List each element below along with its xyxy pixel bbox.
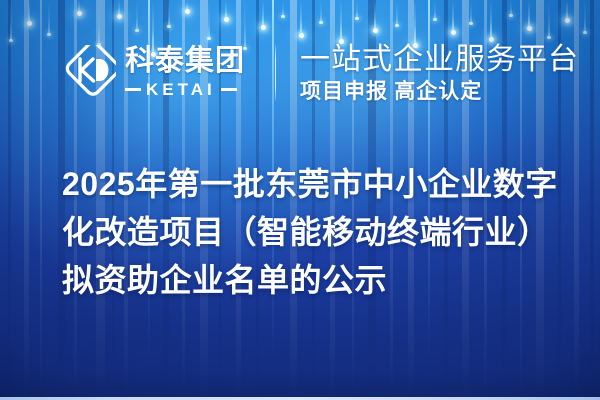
- background-stripe: [8, 0, 11, 400]
- light-streak-tail: [28, 0, 30, 24]
- tagline-sub: 项目申报 高企认定: [300, 80, 579, 102]
- light-streak-head: [167, 25, 171, 29]
- light-streak-icon: [28, 0, 30, 24]
- light-streak-icon: [300, 0, 302, 36]
- light-streak-tail: [48, 0, 50, 34]
- light-streak-tail: [584, 0, 586, 32]
- announcement-banner: 科泰集团 KETAI 一站式企业服务平台 项目申报 高企认定 2025年第一批东…: [0, 0, 600, 400]
- light-streak-head: [281, 15, 285, 19]
- light-streak-icon: [225, 0, 227, 20]
- light-streak-tail: [208, 0, 210, 38]
- header-divider: [275, 45, 276, 101]
- light-streak-tail: [528, 0, 530, 29]
- light-streak-tail: [10, 0, 12, 40]
- light-streak-icon: [584, 0, 586, 32]
- light-streak-head: [527, 26, 532, 31]
- light-streak-tail: [356, 0, 358, 18]
- banner-header: 科泰集团 KETAI 一站式企业服务平台 项目申报 高企认定: [62, 44, 579, 102]
- light-streak-icon: [48, 0, 50, 34]
- light-streak-head: [27, 21, 32, 26]
- light-streak-icon: [470, 0, 472, 23]
- bottom-shade: [0, 371, 600, 397]
- light-streak-tail: [78, 0, 80, 14]
- page-title: 2025年第一批东莞市中小企业数字 化改造项目（智能移动终端行业） 拟资助企业名…: [62, 160, 572, 304]
- brand-wordmark: 科泰集团 KETAI: [125, 47, 245, 98]
- ketai-monogram-icon: [62, 45, 116, 101]
- light-streak-icon: [374, 0, 376, 31]
- light-streak-tail: [566, 0, 568, 21]
- light-streak-icon: [434, 0, 436, 19]
- light-streak-tail: [396, 0, 398, 25]
- light-streak-head: [319, 21, 323, 25]
- light-streak-icon: [282, 0, 284, 16]
- logo-dash-left-icon: [125, 88, 141, 91]
- light-streak-icon: [510, 0, 512, 15]
- light-streak-tail: [340, 0, 342, 42]
- brand-name-cn: 科泰集团: [125, 47, 245, 76]
- light-streak-tail: [434, 0, 436, 19]
- light-streak-icon: [356, 0, 358, 18]
- light-streak-tail: [490, 0, 492, 40]
- light-streak-tail: [168, 0, 170, 26]
- light-streak-head: [547, 36, 551, 40]
- brand-tagline: 一站式企业服务平台 项目申报 高企认定: [300, 44, 579, 102]
- light-streak-icon: [452, 0, 454, 33]
- light-streak-icon: [136, 0, 138, 30]
- tagline-main: 一站式企业服务平台: [300, 44, 579, 76]
- light-streak-icon: [78, 0, 80, 14]
- light-streak-head: [469, 22, 473, 26]
- light-streak-head: [77, 11, 82, 16]
- light-streak-head: [395, 24, 399, 28]
- light-streak-icon: [340, 0, 342, 42]
- light-streak-tail: [548, 0, 550, 37]
- light-streak-tail: [118, 0, 120, 17]
- light-streak-head: [224, 17, 229, 22]
- light-streak-tail: [98, 0, 100, 44]
- light-streak-head: [433, 18, 437, 22]
- light-streak-tail: [414, 0, 416, 46]
- light-streak-head: [373, 28, 378, 33]
- light-streak-head: [299, 33, 304, 38]
- light-streak-head: [509, 14, 513, 18]
- light-streak-icon: [168, 0, 170, 26]
- light-streak-tail: [300, 0, 302, 36]
- light-streak-head: [355, 17, 359, 21]
- light-streak-tail: [186, 0, 188, 12]
- light-streak-head: [451, 30, 456, 35]
- light-streak-tail: [136, 0, 138, 30]
- light-streak-head: [9, 39, 13, 43]
- light-streak-icon: [118, 0, 120, 17]
- light-streak-head: [565, 18, 570, 23]
- light-streak-icon: [548, 0, 550, 37]
- light-streak-tail: [510, 0, 512, 15]
- light-streak-icon: [208, 0, 210, 38]
- light-streak-head: [489, 37, 494, 42]
- light-streak-icon: [528, 0, 530, 29]
- light-streak-head: [117, 14, 122, 19]
- light-streak-tail: [374, 0, 376, 31]
- brand-name-en-row: KETAI: [125, 81, 245, 98]
- light-streak-icon: [566, 0, 568, 21]
- light-streak-icon: [10, 0, 12, 40]
- light-streak-icon: [414, 0, 416, 46]
- light-streak-tail: [452, 0, 454, 33]
- light-streak-icon: [490, 0, 492, 40]
- light-streak-head: [185, 9, 190, 14]
- background-stripe: [590, 0, 594, 400]
- light-streak-icon: [320, 0, 322, 22]
- brand-logo[interactable]: 科泰集团 KETAI: [62, 45, 245, 101]
- light-streak-icon: [186, 0, 188, 12]
- page-title-line: 拟资助企业名单的公示: [62, 256, 572, 304]
- light-streak-icon: [396, 0, 398, 25]
- light-streak-tail: [244, 0, 246, 48]
- light-streak-head: [47, 33, 51, 37]
- light-streak-head: [261, 25, 266, 30]
- light-streak-head: [583, 31, 587, 35]
- light-streak-icon: [98, 0, 100, 44]
- light-streak-head: [135, 29, 139, 33]
- light-streak-tail: [225, 0, 227, 20]
- brand-name-en: KETAI: [146, 81, 216, 98]
- page-title-line: 2025年第一批东莞市中小企业数字: [62, 160, 572, 208]
- light-streak-icon: [262, 0, 264, 28]
- light-streak-tail: [470, 0, 472, 23]
- light-streak-tail: [282, 0, 284, 16]
- light-streak-tail: [262, 0, 264, 28]
- light-streak-icon: [244, 0, 246, 48]
- background-stripe: [40, 0, 42, 400]
- light-streak-head: [207, 37, 211, 41]
- logo-dash-right-icon: [221, 88, 237, 91]
- background-stripe: [24, 0, 29, 400]
- light-streak-tail: [320, 0, 322, 22]
- page-title-line: 化改造项目（智能移动终端行业）: [62, 208, 572, 256]
